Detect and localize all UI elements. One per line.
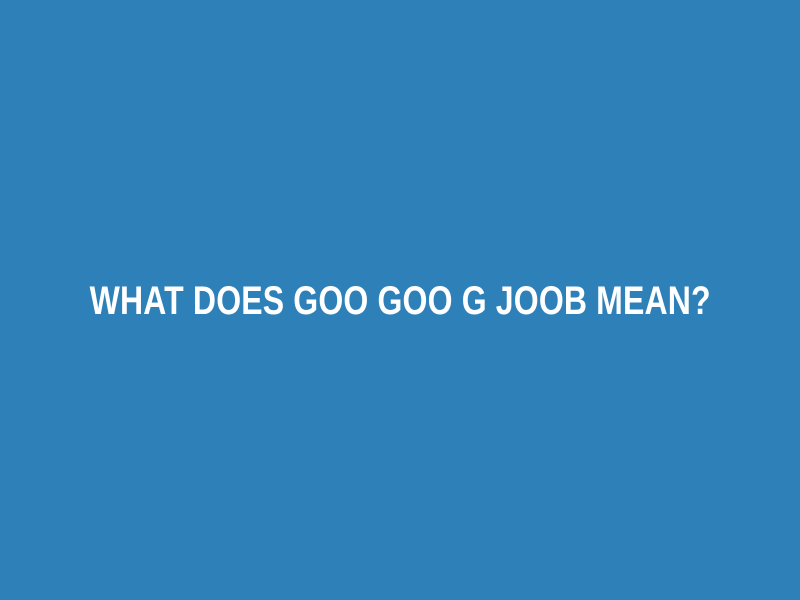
page-title: WHAT DOES GOO GOO G JOOB MEAN? — [89, 281, 710, 321]
featured-image-banner: WHAT DOES GOO GOO G JOOB MEAN? — [0, 0, 800, 600]
headline-container: WHAT DOES GOO GOO G JOOB MEAN? — [0, 281, 800, 315]
